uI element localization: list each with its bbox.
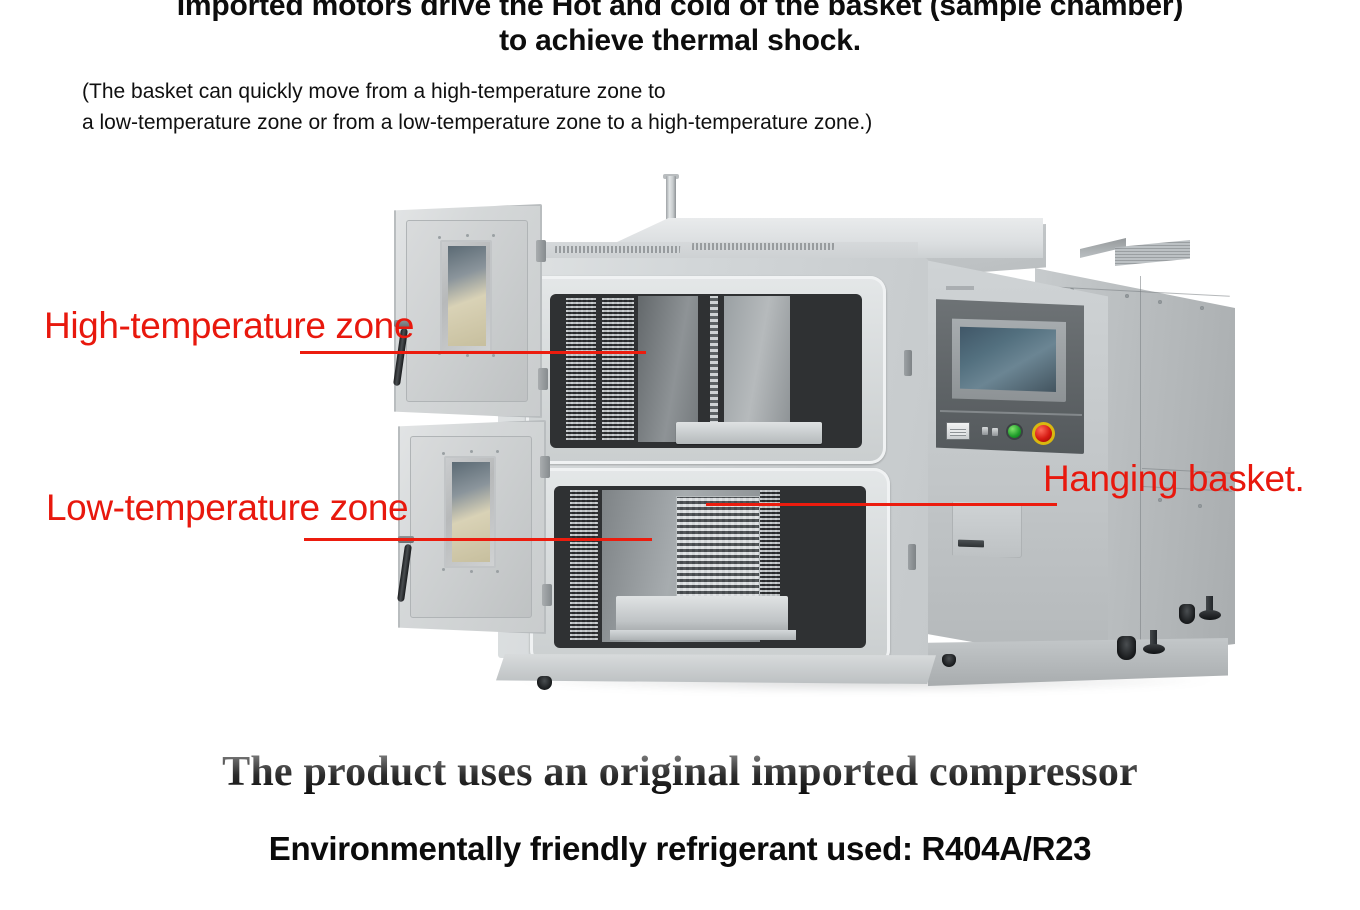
emergency-stop-button[interactable] bbox=[1032, 422, 1055, 445]
door-hinge bbox=[536, 240, 546, 262]
door-rivet bbox=[438, 236, 441, 239]
exhaust-pipe bbox=[666, 176, 676, 220]
annotation-high-temperature-zone: High-temperature zone bbox=[44, 305, 414, 347]
leveling-foot bbox=[1199, 610, 1221, 620]
lower-perforated-panel bbox=[570, 490, 598, 640]
door-hinge bbox=[540, 456, 550, 478]
page-title: Imported motors drive the Hot and cold o… bbox=[0, 0, 1360, 59]
door-rivet bbox=[492, 354, 495, 357]
door-rivet bbox=[442, 452, 445, 455]
control-panel-label-strip bbox=[946, 286, 974, 290]
door-hinge bbox=[542, 584, 552, 606]
toggle-switch[interactable] bbox=[992, 428, 998, 436]
door-rivet bbox=[470, 570, 473, 573]
upper-basket-tray bbox=[676, 422, 822, 444]
caster-wheel bbox=[1117, 636, 1136, 660]
hanging-basket bbox=[676, 496, 760, 598]
caster-wheel bbox=[1179, 604, 1195, 624]
start-button[interactable] bbox=[1006, 423, 1023, 440]
door-rivet bbox=[492, 234, 495, 237]
basket-lift-chain bbox=[710, 296, 718, 436]
door-rivet bbox=[496, 450, 499, 453]
low-temperature-leader-line bbox=[304, 538, 652, 541]
panel-screw bbox=[1125, 294, 1129, 298]
upper-perforated-panel bbox=[602, 298, 634, 440]
hanging-basket-leader-line bbox=[706, 503, 1057, 506]
base-plinth-front bbox=[496, 654, 936, 684]
hood-vent-slots bbox=[555, 246, 680, 253]
leveling-foot bbox=[1143, 644, 1165, 654]
lower-door-latch-keeper[interactable] bbox=[908, 544, 916, 570]
page-title-line-2: to achieve thermal shock. bbox=[0, 23, 1360, 58]
door-rivet bbox=[496, 570, 499, 573]
upper-perforated-panel bbox=[566, 298, 596, 440]
high-temperature-door-window-glass bbox=[448, 246, 486, 346]
access-hatch[interactable] bbox=[952, 500, 1022, 558]
footer-headline: The product uses an original imported co… bbox=[0, 748, 1360, 796]
page-subtitle-line-1: (The basket can quickly move from a high… bbox=[82, 76, 1182, 107]
hood-vent-slots bbox=[692, 243, 834, 250]
door-rivet bbox=[442, 568, 445, 571]
footer-subheadline: Environmentally friendly refrigerant use… bbox=[0, 830, 1360, 868]
page-subtitle-line-2: a low-temperature zone or from a low-tem… bbox=[82, 107, 1182, 138]
upper-chamber-wall bbox=[638, 296, 698, 442]
panel-screw bbox=[1200, 306, 1204, 310]
low-temperature-door-window-glass bbox=[452, 462, 490, 562]
hanging-basket-lip bbox=[610, 630, 796, 640]
toggle-switch[interactable] bbox=[982, 427, 988, 435]
page-subtitle: (The basket can quickly move from a high… bbox=[82, 76, 1182, 138]
door-rivet bbox=[470, 450, 473, 453]
thermal-shock-chamber-photo bbox=[380, 168, 1045, 673]
annotation-hanging-basket: Hanging basket. bbox=[1043, 458, 1304, 500]
panel-screw bbox=[1198, 504, 1202, 508]
annotation-low-temperature-zone: Low-temperature zone bbox=[46, 487, 408, 529]
high-temperature-leader-line bbox=[300, 351, 646, 354]
temperature-meter-readout bbox=[950, 427, 966, 436]
access-hatch-slot bbox=[958, 540, 984, 548]
hanging-basket-base bbox=[616, 596, 788, 632]
panel-screw bbox=[1158, 300, 1162, 304]
touchscreen-display[interactable] bbox=[960, 324, 1056, 392]
door-hinge bbox=[538, 368, 548, 390]
upper-door-latch-keeper[interactable] bbox=[904, 350, 912, 376]
rear-condenser-grille bbox=[1115, 240, 1190, 266]
door-rivet bbox=[466, 354, 469, 357]
door-rivet bbox=[466, 234, 469, 237]
upper-chamber-back-wall bbox=[724, 296, 790, 440]
page-title-line-1: Imported motors drive the Hot and cold o… bbox=[0, 0, 1360, 23]
